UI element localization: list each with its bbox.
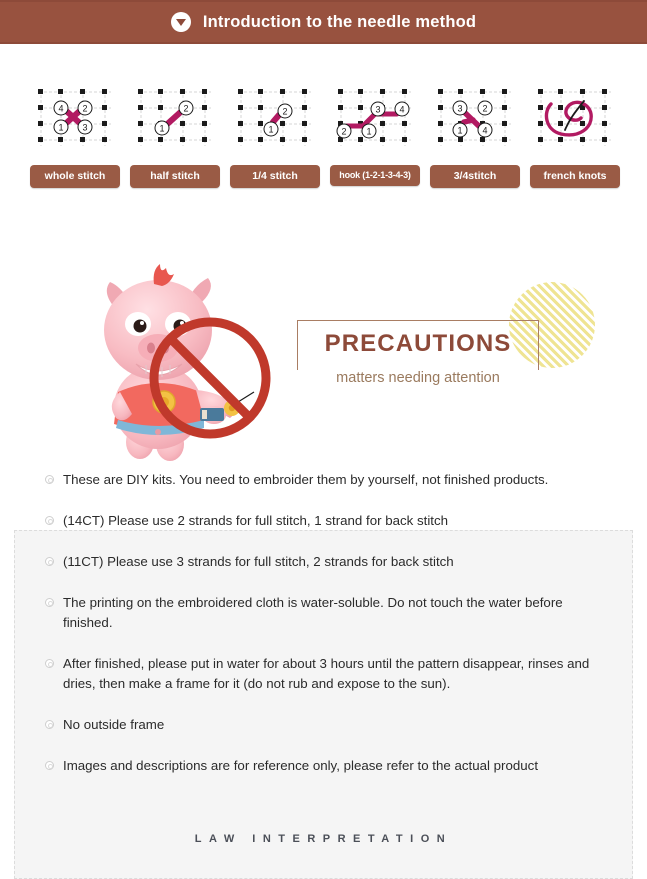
list-item: These are DIY kits. You need to embroide… xyxy=(45,470,605,490)
precautions-subtitle: matters needing attention xyxy=(297,370,539,386)
note-text: (14CT) Please use 2 strands for full sti… xyxy=(63,513,448,528)
svg-text:4: 4 xyxy=(482,126,487,136)
bullet-icon xyxy=(45,516,54,525)
svg-text:1: 1 xyxy=(159,124,164,134)
stitch-label: half stitch xyxy=(130,165,220,188)
note-text: The printing on the embroidered cloth is… xyxy=(63,595,563,630)
bullet-icon xyxy=(45,720,54,729)
stitch-label: french knots xyxy=(530,165,620,188)
stitch-label: whole stitch xyxy=(30,165,120,188)
header-content: Introduction to the needle method xyxy=(171,12,476,32)
svg-text:2: 2 xyxy=(183,104,188,114)
stitch-card-half-stitch: 2 1 half stitch xyxy=(130,86,220,188)
list-item: No outside frame xyxy=(45,715,605,735)
three-quarter-stitch-diagram: 3 2 1 4 xyxy=(435,86,515,152)
bullet-icon xyxy=(45,598,54,607)
svg-text:3: 3 xyxy=(82,123,87,133)
svg-text:2: 2 xyxy=(482,104,487,114)
french-knots-diagram xyxy=(535,86,615,152)
triangle-down-icon xyxy=(171,12,191,32)
svg-text:2: 2 xyxy=(82,104,87,114)
stitch-card-hook: 3 4 2 1 hook (1-2-1-3-4-3) xyxy=(330,86,420,188)
note-text: No outside frame xyxy=(63,717,164,732)
hook-stitch-diagram: 3 4 2 1 xyxy=(335,86,415,152)
stitch-methods-row: 4 2 1 3 whole stitch xyxy=(30,86,620,188)
note-text: After finished, please put in water for … xyxy=(63,656,589,691)
stitch-label: hook (1-2-1-3-4-3) xyxy=(330,165,420,186)
bullet-icon xyxy=(45,761,54,770)
pig-with-prohibition-sign xyxy=(92,252,282,462)
svg-text:1: 1 xyxy=(58,123,63,133)
stitch-label: 1/4 stitch xyxy=(230,165,320,188)
svg-text:1: 1 xyxy=(268,125,273,135)
footer-text: LAW INTERPRETATION xyxy=(0,833,647,845)
list-item: (11CT) Please use 3 strands for full sti… xyxy=(45,552,605,572)
stitch-card-quarter-stitch: 2 1 1/4 stitch xyxy=(230,86,320,188)
quarter-stitch-diagram: 2 1 xyxy=(235,86,315,152)
list-item: Images and descriptions are for referenc… xyxy=(45,756,605,776)
svg-text:1: 1 xyxy=(366,127,371,137)
svg-text:1: 1 xyxy=(457,126,462,136)
notes-list: These are DIY kits. You need to embroide… xyxy=(45,470,605,797)
list-item: The printing on the embroidered cloth is… xyxy=(45,593,605,633)
stitch-card-french-knots: french knots xyxy=(530,86,620,188)
note-text: (11CT) Please use 3 strands for full sti… xyxy=(63,554,454,569)
note-text: Images and descriptions are for referenc… xyxy=(63,758,538,773)
list-item: After finished, please put in water for … xyxy=(45,654,605,694)
svg-text:2: 2 xyxy=(282,107,287,117)
precautions-title: PRECAUTIONS xyxy=(297,330,539,358)
bullet-icon xyxy=(45,475,54,484)
bullet-icon xyxy=(45,659,54,668)
note-text: These are DIY kits. You need to embroide… xyxy=(63,472,548,487)
stitch-card-whole-stitch: 4 2 1 3 whole stitch xyxy=(30,86,120,188)
svg-text:3: 3 xyxy=(457,104,462,114)
list-item: (14CT) Please use 2 strands for full sti… xyxy=(45,511,605,531)
page-header: Introduction to the needle method xyxy=(0,0,647,44)
page-title: Introduction to the needle method xyxy=(203,13,476,32)
precautions-heading-block: PRECAUTIONS matters needing attention xyxy=(297,282,597,392)
stitch-label: 3/4stitch xyxy=(430,165,520,188)
svg-text:2: 2 xyxy=(341,127,346,137)
svg-text:4: 4 xyxy=(58,104,63,114)
svg-text:4: 4 xyxy=(399,105,404,115)
svg-text:3: 3 xyxy=(375,105,380,115)
stitch-card-three-quarter-stitch: 3 2 1 4 3/4stitch xyxy=(430,86,520,188)
half-stitch-diagram: 2 1 xyxy=(135,86,215,152)
whole-stitch-diagram: 4 2 1 3 xyxy=(35,86,115,152)
bullet-icon xyxy=(45,557,54,566)
